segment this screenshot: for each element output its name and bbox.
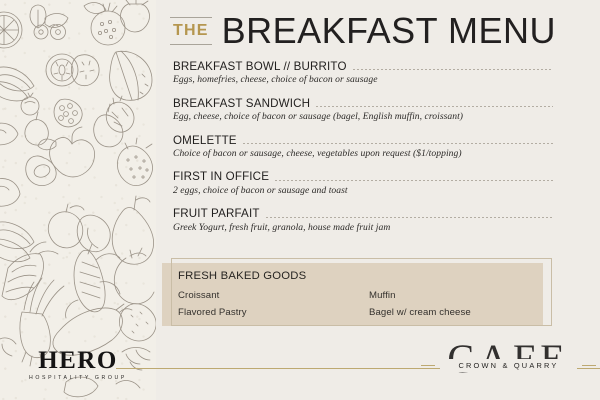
corn-cob-icon — [66, 244, 120, 318]
apple-half-icon — [0, 178, 20, 206]
menu-item-description: 2 eggs, choice of bacon or sausage and t… — [173, 185, 553, 197]
menu-content: THE BREAKFAST MENU BREAKFAST BOWL // BUR… — [156, 0, 600, 400]
menu-item-dotted-rule — [243, 143, 553, 144]
page-title: THE BREAKFAST MENU — [171, 13, 556, 49]
menu-item-dotted-rule — [266, 217, 553, 218]
banana-bunch-2-icon — [0, 222, 34, 262]
cafe-logo: CAFE CROWN & QUARRY — [421, 339, 596, 387]
cafe-name-band: CROWN & QUARRY — [421, 359, 596, 372]
menu-item-description: Egg, cheese, choice of bacon or sausage … — [173, 111, 553, 123]
fresh-baked-goods-panel: FRESH BAKED GOODS Croissant Muffin Flavo… — [162, 258, 562, 330]
cafe-name: CROWN & QUARRY — [440, 359, 577, 372]
menu-page: THE BREAKFAST MENU BREAKFAST BOWL // BUR… — [0, 0, 600, 400]
cafe-rule-right — [582, 365, 596, 366]
hero-tagline: HOSPITALITY GROUP — [18, 376, 138, 381]
orange-slice-icon — [0, 12, 22, 48]
baked-good-item: Croissant — [178, 290, 369, 301]
title-text: BREAKFAST MENU — [222, 13, 556, 49]
raspberry-icon — [54, 99, 82, 127]
tomato-icon — [114, 248, 154, 304]
menu-item-description: Choice of bacon or sausage, cheese, vege… — [173, 148, 553, 160]
watermelon-slice-icon — [110, 51, 152, 100]
small-berry-icon — [21, 93, 39, 115]
fresh-baked-goods-grid: Croissant Muffin Flavored Pastry Bagel w… — [178, 290, 543, 318]
blueberries-icon — [30, 5, 68, 40]
small-sprig-icon — [0, 338, 16, 356]
menu-item-dotted-rule — [275, 180, 553, 181]
menu-item: BREAKFAST SANDWICH Egg, cheese, choice o… — [173, 97, 553, 123]
menu-item-name: BREAKFAST BOWL // BURRITO — [173, 60, 347, 73]
apple-icon — [38, 127, 95, 177]
menu-item-head: FIRST IN OFFICE — [173, 170, 553, 183]
pear-top-icon — [25, 112, 48, 145]
menu-item-head: OMELETTE — [173, 134, 553, 147]
menu-item: FIRST IN OFFICE 2 eggs, choice of bacon … — [173, 170, 553, 196]
strawberry-icon — [121, 0, 150, 32]
menu-item-dotted-rule — [353, 69, 553, 70]
menu-item-name: BREAKFAST SANDWICH — [173, 97, 310, 110]
food-line-art-illustrations — [0, 0, 156, 400]
menu-item-dotted-rule — [316, 106, 553, 107]
peach-half-icon — [26, 156, 56, 186]
menu-item-description: Greek Yogurt, fresh fruit, granola, hous… — [173, 222, 553, 234]
menu-item-head: BREAKFAST BOWL // BURRITO — [173, 60, 553, 73]
fig-icon — [106, 96, 134, 132]
menu-item: FRUIT PARFAIT Greek Yogurt, fresh fruit,… — [173, 207, 553, 233]
menu-item-name: OMELETTE — [173, 134, 237, 147]
pomegranate-icon — [91, 3, 125, 45]
title-eyebrow: THE — [171, 20, 211, 42]
baked-good-item: Bagel w/ cream cheese — [369, 307, 543, 318]
cafe-rule-left — [421, 365, 435, 366]
menu-item-name: FIRST IN OFFICE — [173, 170, 269, 183]
menu-item-head: FRUIT PARFAIT — [173, 207, 553, 220]
banana-bunch-icon — [0, 67, 34, 101]
menu-item-head: BREAKFAST SANDWICH — [173, 97, 553, 110]
menu-item: BREAKFAST BOWL // BURRITO Eggs, homefrie… — [173, 60, 553, 86]
menu-item-description: Eggs, homefries, cheese, choice of bacon… — [173, 74, 553, 86]
kiwi-halves-icon — [46, 54, 99, 86]
strawberry-dotted-icon — [117, 138, 152, 186]
menu-item-name: FRUIT PARFAIT — [173, 207, 260, 220]
fresh-baked-goods-content: FRESH BAKED GOODS Croissant Muffin Flavo… — [162, 263, 543, 326]
baked-good-item: Flavored Pastry — [178, 307, 369, 318]
illustration-panel — [0, 0, 156, 400]
menu-item-list: BREAKFAST BOWL // BURRITO Eggs, homefrie… — [173, 60, 553, 244]
pear-upper-icon — [94, 104, 123, 147]
fresh-baked-goods-title: FRESH BAKED GOODS — [178, 270, 543, 282]
plums-icon — [48, 204, 110, 252]
hero-wordmark: HERO — [18, 348, 138, 373]
hero-logo: HERO HOSPITALITY GROUP — [18, 348, 138, 381]
baked-good-item: Muffin — [369, 290, 543, 301]
menu-item: OMELETTE Choice of bacon or sausage, che… — [173, 134, 553, 160]
apple-slice-icon — [0, 123, 18, 145]
celery-icon — [2, 242, 58, 300]
